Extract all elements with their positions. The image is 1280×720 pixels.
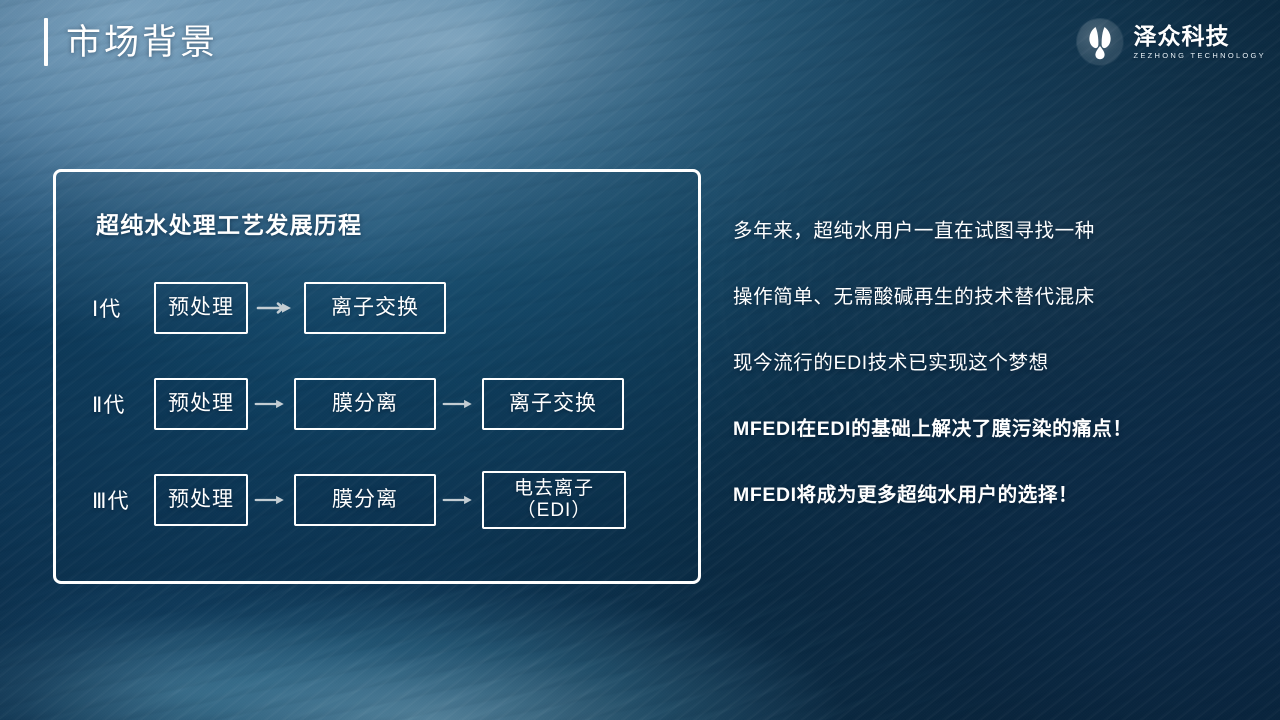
node-membrane-separation-gen2: 膜分离 [294,378,436,430]
generation-label-2: Ⅱ代 [92,389,154,419]
node-pretreatment-gen2: 预处理 [154,378,248,430]
node-membrane-separation-gen3: 膜分离 [294,474,436,526]
node-pretreatment-gen1: 预处理 [154,282,248,334]
slide-root: 市场背景 泽众科技 ZEZHONG TECHNOLOGY 超纯水处理工艺发展历程… [0,0,1280,720]
node-ion-exchange-gen2: 离子交换 [482,378,624,430]
generation-label-1: Ⅰ代 [92,293,154,323]
flow-row-gen2: Ⅱ代 预处理 膜分离 离子交换 [56,366,698,442]
narrative-line-4: MFEDI在EDI的基础上解决了膜污染的痛点！ [733,412,1263,441]
flow-row-gen1: Ⅰ代 预处理 离子交换 [56,270,698,346]
arrow-icon-3a [248,493,294,507]
narrative-line-2: 操作简单、无需酸碱再生的技术替代混床 [733,280,1263,309]
arrow-icon-2b [436,397,482,411]
narrative-text-block: 多年来，超纯水用户一直在试图寻找一种 操作简单、无需酸碱再生的技术替代混床 现今… [733,214,1263,507]
flow-row-gen3: Ⅲ代 预处理 膜分离 电去离子 （EDI） [56,462,698,538]
generation-label-3: Ⅲ代 [92,485,154,515]
node-pretreatment-gen3: 预处理 [154,474,248,526]
water-drop-petal-icon [1076,18,1124,66]
narrative-line-1: 多年来，超纯水用户一直在试图寻找一种 [733,214,1263,243]
arrow-icon-1a [248,301,304,315]
node-ion-exchange-gen1: 离子交换 [304,282,446,334]
logo-name-cn: 泽众科技 [1133,24,1266,48]
narrative-line-3: 现今流行的EDI技术已实现这个梦想 [733,346,1263,375]
arrow-icon-2a [248,397,294,411]
page-title: 市场背景 [66,25,218,60]
process-flow-diagram: Ⅰ代 预处理 离子交换 Ⅱ代 预处理 膜分离 离子交换 [56,270,698,558]
process-history-panel: 超纯水处理工艺发展历程 Ⅰ代 预处理 离子交换 Ⅱ代 预处理 膜分离 [53,169,701,584]
node-edi-gen3: 电去离子 （EDI） [482,471,626,529]
company-logo: 泽众科技 ZEZHONG TECHNOLOGY [1076,18,1266,66]
logo-name-en: ZEZHONG TECHNOLOGY [1133,51,1266,60]
slide-header: 市场背景 [44,18,218,66]
narrative-line-5: MFEDI将成为更多超纯水用户的选择！ [733,478,1263,507]
node-edi-line1: 电去离子 [514,478,594,499]
title-accent-bar [44,18,48,66]
arrow-icon-3b [436,493,482,507]
panel-heading: 超纯水处理工艺发展历程 [96,206,362,240]
logo-wordmark: 泽众科技 ZEZHONG TECHNOLOGY [1133,24,1266,59]
node-edi-line2: （EDI） [517,500,592,521]
